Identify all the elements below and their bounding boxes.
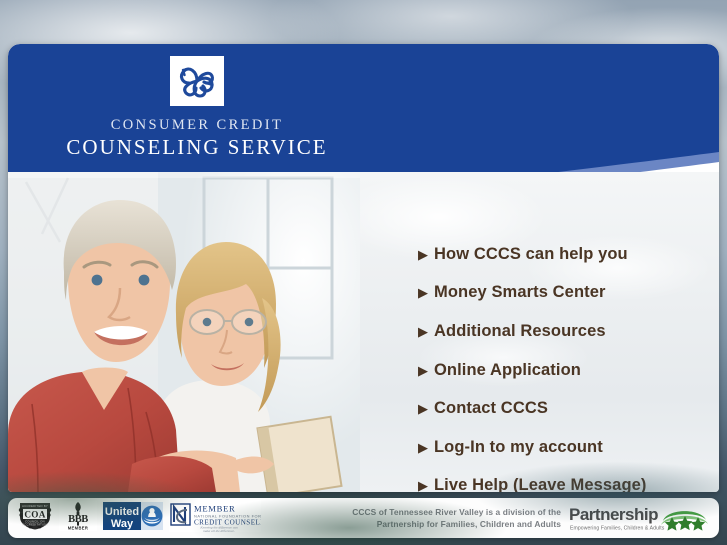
content-area: ▶ How CCCS can help you ▶ Money Smarts C… — [8, 172, 719, 492]
footer-bar: ACCREDITED BY COA COUNCIL ON ACCREDITATI… — [8, 498, 719, 538]
division-statement: CCCS of Tennessee River Valley is a divi… — [261, 506, 569, 530]
menu-item-contact-cccs[interactable]: ▶ Contact CCCS — [418, 389, 718, 428]
menu-item-money-smarts-center[interactable]: ▶ Money Smarts Center — [418, 274, 718, 313]
triangle-right-icon: ▶ — [418, 479, 434, 492]
triangle-right-icon: ▶ — [418, 402, 434, 415]
couple-photo — [8, 172, 360, 492]
navigation-panel: ▶ How CCCS can help you ▶ Money Smarts C… — [360, 172, 719, 492]
bbb-member-logo[interactable]: BBB MEMBER — [59, 501, 97, 536]
menu-item-log-in-to-my-account[interactable]: ▶ Log-In to my account — [418, 428, 718, 467]
triangle-right-icon: ▶ — [418, 325, 434, 338]
menu-item-label: Live Help (Leave Message) — [434, 476, 647, 492]
nfcc-member-logo[interactable]: MEMBER NATIONAL FOUNDATION FOR CREDIT CO… — [169, 500, 261, 537]
triangle-right-icon: ▶ — [418, 364, 434, 377]
division-statement-line-1: CCCS of Tennessee River Valley is a divi… — [261, 506, 561, 518]
main-card: CONSUMER CREDIT COUNSELING SERVICE — [8, 44, 719, 492]
menu-item-additional-resources[interactable]: ▶ Additional Resources — [418, 312, 718, 351]
svg-text:United: United — [105, 506, 139, 518]
menu-item-how-cccs-can-help-you[interactable]: ▶ How CCCS can help you — [418, 235, 718, 274]
pinwheel-swirl-logo-icon — [170, 56, 224, 106]
svg-text:MEMBER: MEMBER — [68, 525, 89, 530]
menu-item-label: Additional Resources — [434, 322, 606, 341]
svg-text:Partnership: Partnership — [569, 505, 658, 524]
triangle-right-icon: ▶ — [418, 441, 434, 454]
menu-item-label: Money Smarts Center — [434, 283, 606, 302]
svg-text:ACCREDITATION: ACCREDITATION — [22, 522, 47, 526]
brand-logo-block[interactable]: CONSUMER CREDIT COUNSELING SERVICE — [62, 56, 332, 161]
brand-line-1: CONSUMER CREDIT — [62, 116, 332, 134]
svg-text:make all the difference.: make all the difference. — [203, 528, 235, 531]
united-way-logo[interactable]: United Way — [103, 501, 163, 536]
menu-item-label: Online Application — [434, 361, 581, 380]
menu-item-online-application[interactable]: ▶ Online Application — [418, 351, 718, 390]
svg-text:Empowering Families, Children: Empowering Families, Children & Adults — [570, 526, 665, 532]
coa-accreditation-logo[interactable]: ACCREDITED BY COA COUNCIL ON ACCREDITATI… — [17, 501, 53, 536]
svg-text:Way: Way — [111, 518, 134, 530]
brand-line-2: COUNSELING SERVICE — [62, 134, 332, 161]
division-statement-line-2: Partnership for Families, Children and A… — [261, 518, 561, 530]
triangle-right-icon: ▶ — [418, 286, 434, 299]
triangle-right-icon: ▶ — [418, 248, 434, 261]
svg-text:ACCREDITED BY: ACCREDITED BY — [22, 504, 48, 508]
menu-item-live-help[interactable]: ▶ Live Help (Leave Message) — [418, 467, 718, 492]
partnership-logo[interactable]: Partnership Empowering Families, Childre… — [569, 502, 719, 534]
svg-text:MEMBER: MEMBER — [194, 503, 235, 513]
menu-item-label: How CCCS can help you — [434, 245, 628, 264]
menu-item-label: Log-In to my account — [434, 438, 603, 457]
menu-item-label: Contact CCCS — [434, 399, 548, 418]
main-menu: ▶ How CCCS can help you ▶ Money Smarts C… — [418, 235, 718, 492]
accreditation-logos: ACCREDITED BY COA COUNCIL ON ACCREDITATI… — [8, 500, 261, 537]
page-background: CONSUMER CREDIT COUNSELING SERVICE — [0, 0, 727, 545]
svg-text:COA: COA — [24, 509, 45, 519]
